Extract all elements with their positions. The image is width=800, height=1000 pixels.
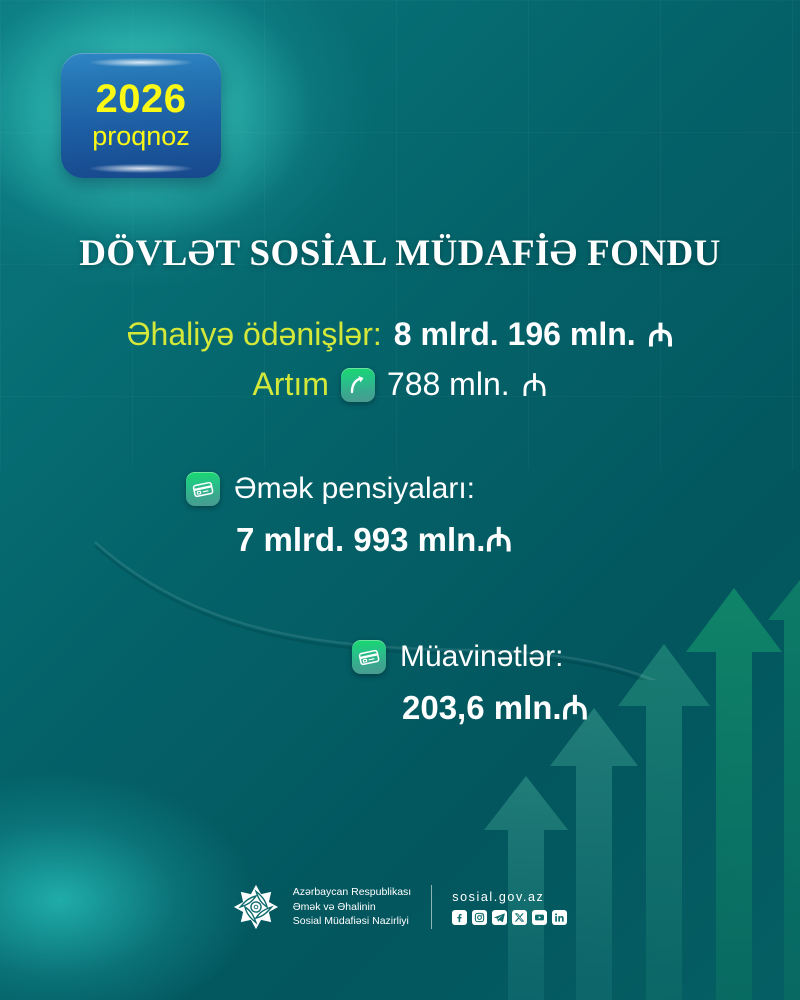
stat-block-benefits: Müavinətlər: 203,6 mln.₼ bbox=[0, 640, 800, 729]
ministry-star-logo bbox=[233, 884, 279, 930]
infographic-poster: 2026 proqnoz DÖVLƏT SOSİAL MÜDAFİƏ FONDU… bbox=[0, 0, 800, 1000]
payments-currency: ₼ bbox=[648, 313, 674, 356]
ministry-name: Azərbaycan Respublikası Əmək və Əhalinin… bbox=[293, 885, 411, 930]
ministry-line-2: Əmək və Əhalinin bbox=[293, 900, 411, 915]
growth-label: Artım bbox=[252, 366, 328, 403]
linkedin-icon[interactable] bbox=[552, 910, 567, 925]
stat-row-payments: Əhaliyə ödənişlər: 8 mlrd. 196 mln. ₼ bbox=[0, 313, 800, 356]
contact-block: sosial.gov.az bbox=[452, 890, 567, 925]
forecast-year-badge: 2026 proqnoz bbox=[61, 53, 221, 178]
stat-row-growth: Artım 788 mln. ₼ bbox=[0, 363, 800, 406]
pension-label: Əmək pensiyaları: bbox=[234, 472, 475, 506]
badge-year: 2026 bbox=[96, 79, 187, 119]
pension-header: Əmək pensiyaları: bbox=[0, 472, 800, 506]
website-link[interactable]: sosial.gov.az bbox=[452, 890, 567, 904]
pension-currency: ₼ bbox=[485, 520, 512, 559]
growth-value: 788 mln. bbox=[387, 366, 510, 403]
footer-divider bbox=[431, 885, 432, 929]
ministry-line-1: Azərbaycan Respublikası bbox=[293, 885, 411, 900]
pension-value-line: 7 mlrd. 993 mln.₼ bbox=[0, 516, 800, 561]
stat-block-pension: Əmək pensiyaları: 7 mlrd. 993 mln.₼ bbox=[0, 472, 800, 561]
payment-card-icon bbox=[352, 640, 386, 674]
benefits-label: Müavinətlər: bbox=[400, 640, 563, 674]
benefits-value: 203,6 mln. bbox=[402, 689, 562, 726]
instagram-icon[interactable] bbox=[472, 910, 487, 925]
growth-arrow-icon bbox=[341, 368, 375, 402]
ministry-line-3: Sosial Müdafiəsi Nazirliyi bbox=[293, 914, 411, 929]
badge-subtitle: proqnoz bbox=[92, 122, 190, 152]
benefits-value-line: 203,6 mln.₼ bbox=[0, 684, 800, 729]
facebook-icon[interactable] bbox=[452, 910, 467, 925]
page-title: DÖVLƏT SOSİAL MÜDAFİƏ FONDU bbox=[0, 232, 800, 275]
social-links bbox=[452, 910, 567, 925]
payments-label: Əhaliyə ödənişlər: bbox=[126, 316, 381, 353]
telegram-icon[interactable] bbox=[492, 910, 507, 925]
x-twitter-icon[interactable] bbox=[512, 910, 527, 925]
youtube-icon[interactable] bbox=[532, 910, 547, 925]
pension-value: 7 mlrd. 993 mln. bbox=[236, 521, 485, 558]
benefits-header: Müavinətlər: bbox=[0, 640, 800, 674]
payment-card-icon bbox=[186, 472, 220, 506]
benefits-currency: ₼ bbox=[562, 688, 589, 727]
payments-value: 8 mlrd. 196 mln. bbox=[394, 316, 636, 353]
growth-currency: ₼ bbox=[522, 363, 548, 406]
footer: Azərbaycan Respublikası Əmək və Əhalinin… bbox=[0, 884, 800, 930]
